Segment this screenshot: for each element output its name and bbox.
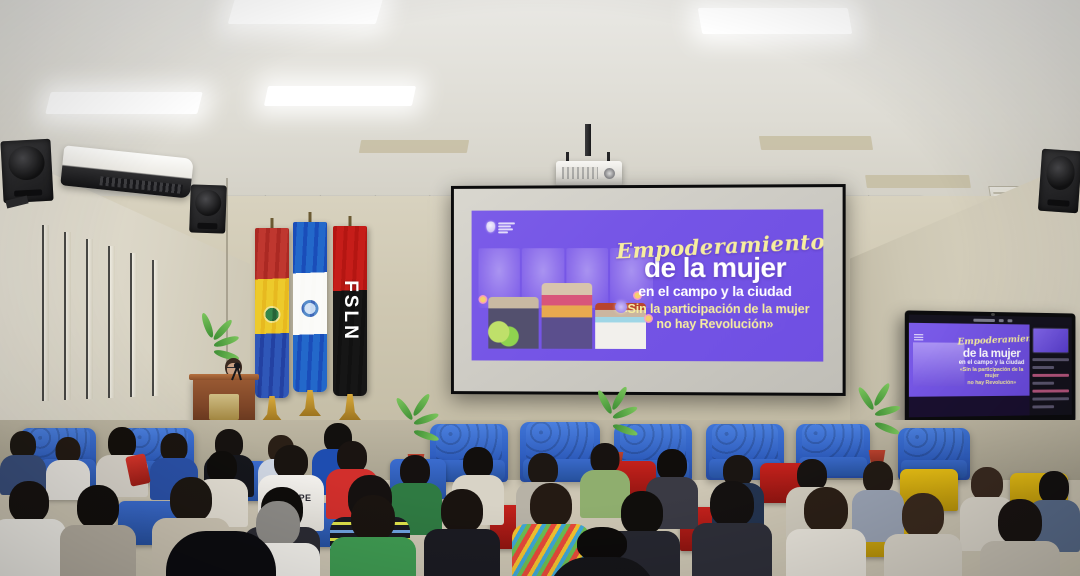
audience-person [884, 493, 962, 576]
audience-person [980, 499, 1060, 576]
tv-sidebar-row [1032, 389, 1069, 392]
audience-person [60, 485, 136, 576]
institutional-crest-logo [486, 221, 515, 233]
tv-slide-preview: Empoderamiento de la mujer en el campo y… [909, 323, 1030, 397]
nicaragua-flag [293, 222, 327, 392]
wall-speaker [0, 139, 53, 204]
tv-quote-line2: no hay Revolución» [957, 380, 1026, 387]
audience-person [692, 481, 772, 576]
fsln-flag: FSLN [333, 226, 367, 396]
ceiling-tile-stained [759, 136, 873, 150]
slide-quote-line1: «Sin la participación de la mujer [616, 302, 814, 317]
ceiling-tile-stained [359, 140, 469, 153]
projection-screen: Empoderamiento de la mujer en el campo y… [451, 184, 846, 396]
tv-quote-line1: «Sin la participación de la mujer [957, 366, 1026, 379]
tv-subtitle: en el campo y la ciudad [957, 359, 1026, 365]
tv-sidebar-row [1032, 366, 1054, 369]
ceiling-light-panel [228, 0, 385, 24]
audience-person [0, 481, 66, 576]
unan-flag [255, 228, 289, 398]
tv-slide-thumbnail[interactable] [1032, 328, 1069, 354]
slide-quote-icon [615, 301, 627, 313]
projector-lens [604, 168, 615, 179]
audience-area: MBAPPE 10 [0, 415, 1080, 576]
auditorium-photo: Empoderamiento de la mujer en el campo y… [0, 0, 1080, 576]
screen-surface: Empoderamiento de la mujer en el campo y… [454, 187, 843, 393]
tv-screen: Empoderamiento de la mujer en el campo y… [909, 315, 1072, 418]
audience-person-foreground [548, 527, 656, 576]
ceiling-light-panel [264, 86, 416, 106]
wall-speaker [1038, 149, 1080, 214]
presentation-slide: Empoderamiento de la mujer en el campo y… [471, 210, 823, 362]
tv-sidebar-row [1032, 358, 1069, 361]
slide-text-block: Empoderamiento de la mujer en el campo y… [616, 236, 814, 332]
tv-slide-logo [914, 333, 923, 340]
tv-main-title: de la mujer [957, 345, 1026, 359]
slide-quote-line2: no hay Revolución» [616, 317, 814, 332]
audience-person-green-shirt [330, 495, 416, 576]
tv-sidebar-row [1032, 382, 1054, 385]
projector-vent [562, 167, 598, 179]
tv-sidebar-row [1032, 397, 1069, 400]
ceiling-light-panel [45, 92, 202, 114]
tv-sidebar-row [1032, 374, 1069, 377]
ceiling-tile-stained [865, 175, 971, 188]
audience-person [424, 489, 500, 576]
ceiling-light-panel [698, 8, 853, 34]
wall-louver-slats [42, 225, 192, 425]
slide-subtitle: en el campo y la ciudad [616, 284, 814, 298]
audience-person [786, 487, 866, 576]
audience-person-foreground [166, 531, 276, 576]
wall-speaker [189, 184, 227, 233]
ceiling-projector [556, 161, 622, 186]
tv-sidebar-row [1032, 405, 1054, 408]
collage-flowers [484, 320, 522, 347]
flat-screen-tv: Empoderamiento de la mujer en el campo y… [905, 310, 1076, 425]
tv-app-sidebar[interactable] [1029, 325, 1071, 416]
